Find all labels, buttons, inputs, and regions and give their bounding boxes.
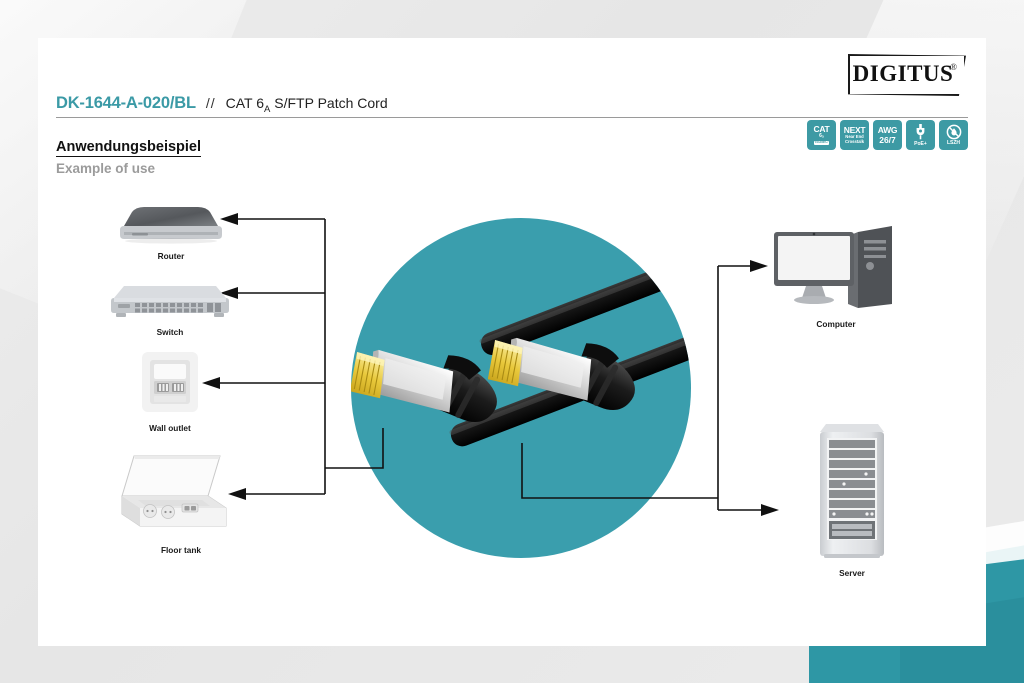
server-icon bbox=[804, 418, 900, 563]
wall-outlet-icon bbox=[130, 348, 210, 418]
device-server: Server bbox=[804, 418, 900, 578]
patch-cord-illustration bbox=[351, 218, 691, 558]
switch-icon bbox=[110, 280, 230, 322]
router-icon bbox=[116, 204, 226, 246]
device-wall-outlet: Wall outlet bbox=[130, 348, 210, 433]
computer-icon bbox=[766, 224, 906, 314]
switch-label: Switch bbox=[110, 327, 230, 337]
computer-label: Computer bbox=[766, 319, 906, 329]
floor-tank-label: Floor tank bbox=[116, 545, 246, 555]
application-diagram: Router bbox=[38, 38, 986, 646]
datasheet-card: DIGITUS ® DK-1644-A-020/BL // CAT 6A S/F… bbox=[38, 38, 986, 646]
server-label: Server bbox=[804, 568, 900, 578]
floor-tank-icon bbox=[116, 450, 246, 540]
router-label: Router bbox=[116, 251, 226, 261]
device-router: Router bbox=[116, 204, 226, 261]
device-floor-tank: Floor tank bbox=[116, 450, 246, 555]
device-computer: Computer bbox=[766, 224, 906, 329]
wall-outlet-label: Wall outlet bbox=[130, 423, 210, 433]
device-switch: Switch bbox=[110, 280, 230, 337]
